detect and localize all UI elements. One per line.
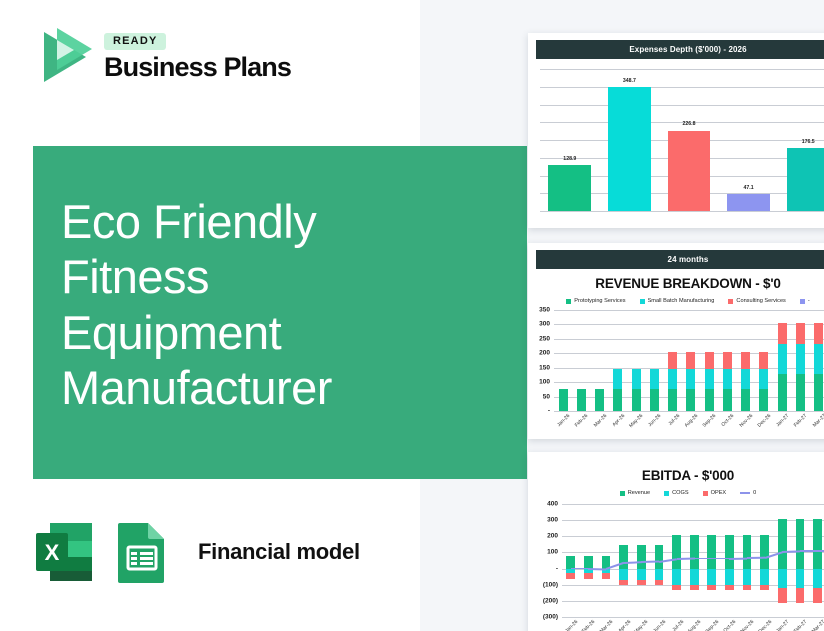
ebitda-plot: 400300200100-(100)(200)(300)Jan-26Feb-26… (562, 504, 824, 617)
y-axis-tick: 200 (547, 533, 558, 540)
legend-swatch-icon (620, 491, 625, 496)
bar-segment (655, 569, 664, 580)
legend-item[interactable]: Prototyping Services (566, 298, 625, 304)
expenses-chart-title: Expenses Depth ($'000) - 2026 (536, 40, 824, 59)
bar-segment (559, 389, 568, 411)
bar-segment (813, 569, 822, 588)
bar-segment (759, 352, 768, 369)
legend-label: 0 (753, 490, 756, 496)
legend-item[interactable]: Consulting Services (728, 298, 785, 304)
bar-segment (632, 369, 641, 389)
x-axis-tick: Apr-26 (617, 619, 632, 631)
x-axis-tick: Jul-26 (667, 413, 681, 427)
page-title-line-3: Manufacturer (61, 360, 511, 415)
legend-swatch-icon (728, 299, 733, 304)
bar-segment (632, 389, 641, 411)
y-axis-tick: 200 (539, 350, 550, 357)
bar-segment (668, 352, 677, 369)
bar-segment (743, 585, 752, 591)
bar-segment (566, 556, 575, 568)
bar-segment (705, 369, 714, 389)
bar-segment (725, 569, 734, 585)
legend-item[interactable]: - (800, 298, 810, 304)
bar (787, 148, 824, 211)
bar (548, 165, 591, 211)
bar-segment (672, 535, 681, 568)
bar-segment (613, 369, 622, 389)
play-triangle-logo-icon (34, 26, 92, 88)
bar-segment (619, 580, 628, 585)
y-axis-tick: 400 (547, 501, 558, 508)
bar-segment (778, 323, 787, 344)
x-axis-tick: Jan-27 (775, 619, 790, 631)
y-axis-tick: (200) (543, 597, 558, 604)
x-axis-tick: Mar-27 (811, 413, 824, 428)
legend-item[interactable]: COGS (664, 490, 688, 496)
bar-segment (723, 389, 732, 411)
legend-label: COGS (672, 490, 688, 496)
gridline (540, 69, 824, 70)
bar-segment (602, 573, 611, 579)
bar-segment (690, 569, 699, 585)
x-axis-tick: Feb-26 (574, 413, 589, 428)
bar-segment (705, 352, 714, 369)
legend-label: Prototyping Services (574, 298, 625, 304)
brand-name: Business Plans (104, 53, 291, 81)
bar-segment (655, 545, 664, 568)
x-axis-tick: Feb-26 (581, 619, 596, 631)
zero-line (800, 550, 818, 552)
bar-segment (566, 573, 575, 579)
bar-segment (814, 374, 823, 411)
bar-segment (760, 535, 769, 568)
x-axis-tick: Nov-26 (738, 413, 754, 429)
legend-item[interactable]: OPEX (703, 490, 727, 496)
gridline (540, 211, 824, 212)
x-axis-tick: Mar-26 (599, 619, 614, 631)
x-axis-tick: Jan-26 (556, 413, 571, 428)
page-title-line-2: Equipment (61, 305, 511, 360)
x-axis-tick: Jan-27 (775, 413, 790, 428)
bar-segment (707, 569, 716, 585)
x-axis-tick: Sep-26 (702, 413, 718, 429)
x-axis-tick: Apr-26 (611, 413, 626, 428)
y-axis-tick: 150 (539, 364, 550, 371)
bar-segment (760, 569, 769, 585)
footer-row: X Financial model (32, 519, 360, 585)
bar-segment (778, 344, 787, 374)
bar-segment (707, 535, 716, 568)
ebitda-chart-title: EBITDA - $'000 (528, 468, 824, 483)
y-axis-tick: (300) (543, 614, 558, 621)
title-panel: Eco FriendlyFitnessEquipmentManufacturer (33, 146, 527, 479)
x-axis-tick: Sep-26 (704, 619, 720, 631)
bar-segment (595, 389, 604, 411)
bar-segment (690, 585, 699, 591)
x-axis-tick: Jul-26 (671, 619, 685, 631)
microsoft-excel-icon: X (32, 519, 96, 585)
legend-label: - (808, 298, 810, 304)
bar-segment (741, 369, 750, 389)
page-title-line-0: Eco Friendly (61, 194, 511, 249)
page-title-line-1: Fitness (61, 249, 511, 304)
bar-segment (650, 389, 659, 411)
x-axis-tick: Jun-26 (648, 413, 663, 428)
bar-segment (707, 585, 716, 591)
bar-segment (778, 588, 787, 603)
bar-segment (619, 545, 628, 568)
y-axis-tick: 300 (539, 321, 550, 328)
bar-segment (796, 323, 805, 344)
y-axis-tick: - (556, 565, 558, 572)
expenses-plot: 128.9348.7226.847.1176.5 (540, 69, 824, 211)
bar-value-label: 226.8 (683, 121, 696, 127)
x-axis-tick: Jan-26 (564, 619, 579, 631)
bar-segment (813, 588, 822, 603)
chart-card-revenue: 24 months REVENUE BREAKDOWN - $'0 Protot… (528, 243, 824, 439)
legend-label: Consulting Services (736, 298, 785, 304)
zero-line (818, 550, 824, 552)
legend-label: Small Batch Manufacturing (648, 298, 715, 304)
zero-line (712, 558, 730, 560)
bar-segment (668, 369, 677, 389)
bar-segment (725, 585, 734, 591)
x-axis-tick: Mar-26 (592, 413, 607, 428)
x-axis-tick: Oct-26 (723, 619, 738, 631)
x-axis-tick: Nov-26 (740, 619, 756, 631)
bar-segment (686, 389, 695, 411)
bar-segment (814, 323, 823, 344)
bar-segment (686, 352, 695, 369)
page-title: Eco FriendlyFitnessEquipmentManufacturer (61, 194, 511, 416)
bar-segment (668, 389, 677, 411)
zero-line (571, 568, 589, 570)
ebitda-legend: RevenueCOGSOPEX0 (528, 490, 824, 496)
bar-segment (796, 374, 805, 411)
bar-segment (584, 556, 593, 568)
x-axis-tick: Dec-26 (756, 413, 772, 429)
x-axis-tick: Mar-27 (810, 619, 824, 631)
bar-segment (584, 573, 593, 579)
bar-segment (760, 585, 769, 591)
brand-logo[interactable]: READY Business Plans (34, 26, 291, 88)
bar-segment (577, 389, 586, 411)
zero-line (729, 557, 747, 559)
y-axis-tick: 100 (547, 549, 558, 556)
revenue-chart-title: REVENUE BREAKDOWN - $'0 (528, 276, 824, 291)
y-axis-tick: 50 (543, 393, 550, 400)
bar-segment (741, 352, 750, 369)
footer-label: Financial model (198, 539, 360, 565)
ready-badge: READY (104, 33, 166, 50)
x-axis-tick: Aug-26 (683, 413, 699, 429)
gridline (540, 87, 824, 88)
bar-segment (637, 580, 646, 585)
zero-line (588, 568, 606, 570)
bar-segment (796, 344, 805, 374)
bar-segment (759, 389, 768, 411)
bar-segment (743, 569, 752, 585)
legend-swatch-icon (800, 299, 805, 304)
bar-segment (796, 569, 805, 588)
bar (668, 131, 711, 212)
bar-segment (690, 535, 699, 568)
bar-segment (814, 344, 823, 374)
bar-segment (796, 519, 805, 568)
legend-item[interactable]: Revenue (620, 490, 650, 496)
bar-segment (637, 569, 646, 580)
gridline (562, 504, 824, 505)
bar-segment (723, 352, 732, 369)
bar-segment (613, 389, 622, 411)
x-axis-tick: May-26 (628, 413, 644, 429)
legend-swatch-icon (703, 491, 708, 496)
chart-card-ebitda: EBITDA - $'000 RevenueCOGSOPEX0 40030020… (528, 452, 824, 631)
legend-swatch-icon (566, 299, 571, 304)
bar-segment (759, 369, 768, 389)
legend-label: Revenue (628, 490, 650, 496)
bar-value-label: 47.1 (744, 185, 754, 191)
revenue-period-header: 24 months (536, 250, 824, 269)
zero-line (694, 558, 712, 560)
bar-value-label: 176.5 (802, 139, 815, 145)
bar-segment (796, 588, 805, 603)
bar-segment (813, 519, 822, 568)
bar-segment (723, 369, 732, 389)
bar (608, 87, 651, 211)
chart-card-expenses: Expenses Depth ($'000) - 2026 128.9348.7… (528, 33, 824, 228)
bar-segment (672, 569, 681, 585)
legend-swatch-icon (640, 299, 645, 304)
bar-segment (705, 389, 714, 411)
bar-segment (743, 535, 752, 568)
page-root: READY Business Plans Eco FriendlyFitness… (0, 0, 824, 631)
x-axis-tick: Feb-27 (793, 413, 808, 428)
y-axis-tick: 100 (539, 379, 550, 386)
x-axis-tick: Feb-27 (793, 619, 808, 631)
bar (727, 194, 770, 211)
bar-segment (741, 389, 750, 411)
x-axis-tick: Dec-26 (757, 619, 773, 631)
x-axis-tick: Aug-26 (687, 619, 703, 631)
google-sheets-icon (110, 519, 174, 585)
bar-segment (686, 369, 695, 389)
bar-segment (637, 545, 646, 568)
x-axis-tick: Oct-26 (721, 413, 736, 428)
bar-value-label: 128.9 (563, 156, 576, 162)
bar-segment (672, 585, 681, 591)
gridline (540, 105, 824, 106)
legend-swatch-icon (740, 492, 750, 494)
legend-item[interactable]: Small Batch Manufacturing (640, 298, 715, 304)
bar-segment (650, 369, 659, 389)
legend-item[interactable]: 0 (740, 490, 756, 496)
y-axis-tick: 300 (547, 517, 558, 524)
legend-label: OPEX (711, 490, 727, 496)
bar-segment (725, 535, 734, 568)
svg-text:X: X (45, 540, 60, 565)
gridline (562, 617, 824, 618)
y-axis-tick: 250 (539, 335, 550, 342)
gridline (554, 411, 824, 412)
y-axis-tick: - (548, 408, 550, 415)
x-axis-tick: May-26 (634, 619, 650, 631)
bar-value-label: 348.7 (623, 78, 636, 84)
bar-segment (778, 569, 787, 588)
bar-segment (655, 580, 664, 585)
revenue-legend: Prototyping ServicesSmall Batch Manufact… (528, 298, 824, 304)
y-axis-tick: (100) (543, 581, 558, 588)
gridline (554, 310, 824, 311)
revenue-plot: 35030025020015010050-Jan-26Feb-26Mar-26A… (554, 310, 824, 411)
bar-segment (619, 569, 628, 580)
bar-segment (778, 374, 787, 411)
legend-swatch-icon (664, 491, 669, 496)
x-axis-tick: Jun-26 (652, 619, 667, 631)
bar-segment (778, 519, 787, 568)
y-axis-tick: 350 (539, 307, 550, 314)
